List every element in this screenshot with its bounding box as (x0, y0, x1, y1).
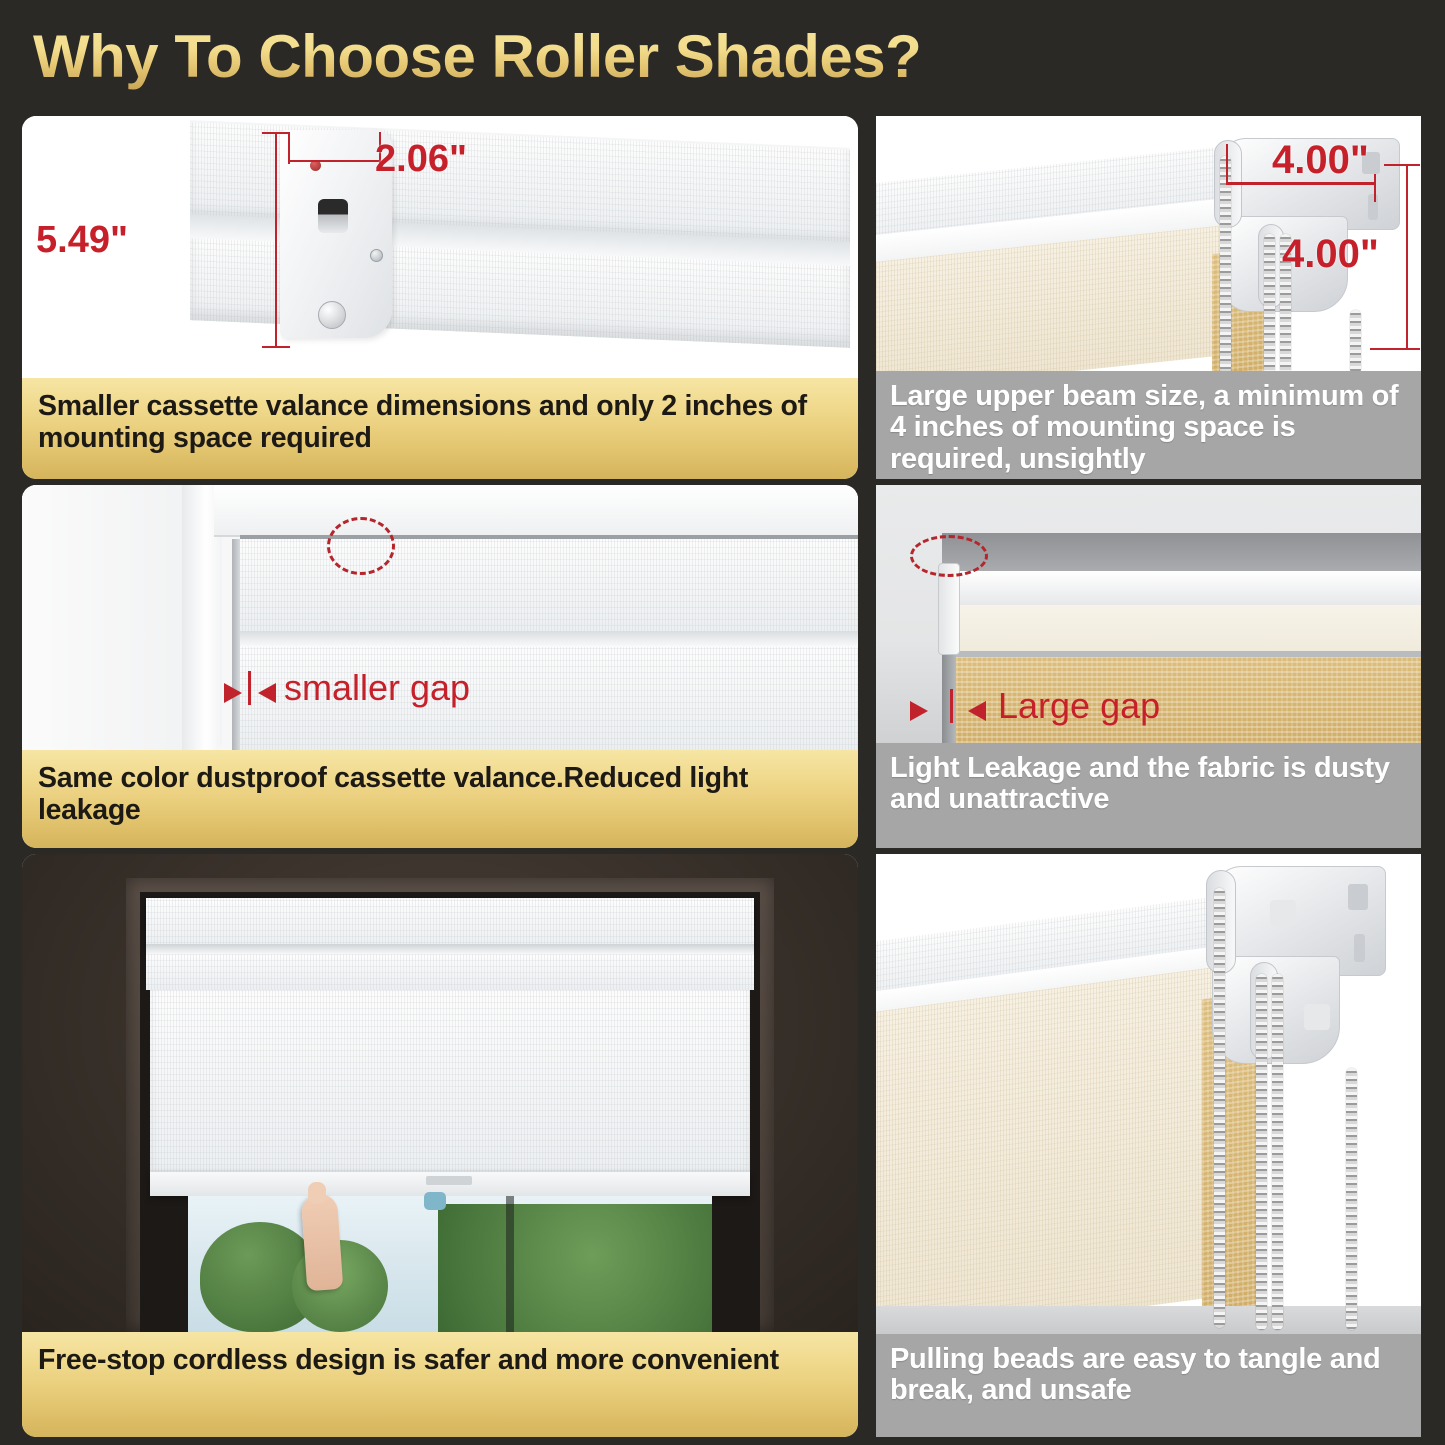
page-title: Why To Choose Roller Shades? (33, 22, 921, 91)
caption-text: Free-stop cordless design is safer and m… (22, 1332, 795, 1376)
valance-strip (942, 571, 1421, 605)
tree-right (438, 1204, 712, 1332)
cassette-valance-photo: 2.06" 5.49" (22, 116, 858, 378)
caption-large-upper-beam: Large upper beam size, a minimum of 4 in… (876, 371, 1421, 479)
height-dim-cap-top (262, 132, 290, 134)
smaller-gap-label: smaller gap (284, 667, 470, 709)
bracket-emblem-lower-icon (1304, 1004, 1330, 1030)
cassette-valance-top (146, 898, 754, 948)
beam-width-tick-left (1226, 144, 1228, 184)
highlight-circle (327, 517, 395, 575)
hand-thumb (308, 1182, 326, 1204)
panel-pulling-beads[interactable]: Pulling beads are easy to tangle and bre… (876, 854, 1421, 1437)
caption-smaller-gap: Same color dustproof cassette valance.Re… (22, 750, 858, 848)
caption-text: Light Leakage and the fabric is dusty an… (876, 743, 1421, 816)
caption-text: Smaller cassette valance dimensions and … (22, 378, 858, 455)
smaller-gap-photo: smaller gap (22, 485, 858, 750)
beam-width-label: 4.00" (1272, 138, 1369, 183)
panel-large-gap[interactable]: Large gap Light Leakage and the fabric i… (876, 485, 1421, 848)
height-dim-line (275, 132, 277, 348)
width-dimension-label: 2.06" (375, 138, 467, 181)
bracket-slot2-icon (1368, 194, 1378, 220)
window-mullion (506, 1196, 514, 1332)
bracket-slot2-icon (1354, 934, 1365, 962)
caption-cordless-design: Free-stop cordless design is safer and m… (22, 1332, 858, 1437)
valance-divider (240, 631, 858, 647)
caption-text: Same color dustproof cassette valance.Re… (22, 750, 858, 827)
beam-height-line (1406, 164, 1408, 350)
bead-chain-4 (1346, 1068, 1357, 1330)
width-dim-line (288, 160, 381, 162)
brand-badge (426, 1176, 472, 1185)
gap-arrow-right-icon (258, 683, 276, 703)
window-casing-top (214, 485, 858, 537)
panel-cordless-design[interactable]: Free-stop cordless design is safer and m… (22, 854, 858, 1437)
large-gap-photo: Large gap (876, 485, 1421, 743)
beam-height-label: 4.00" (1282, 232, 1379, 277)
bead-chain-3 (1272, 974, 1283, 1330)
bracket-slot-icon (1348, 884, 1368, 910)
wall-left (22, 485, 194, 750)
cordless-window-photo (22, 854, 858, 1332)
bead-chain-4 (1350, 310, 1361, 371)
height-dim-cap-bottom (262, 346, 290, 348)
panel-cassette-dimensions[interactable]: 2.06" 5.49" Smaller cassette valance dim… (22, 116, 858, 479)
large-beam-photo: 4.00" 4.00" (876, 116, 1421, 371)
gap-marker-line (950, 689, 953, 723)
comparison-grid: 2.06" 5.49" Smaller cassette valance dim… (0, 108, 1445, 1445)
shade-fabric-front (876, 967, 1214, 1334)
caption-text: Pulling beads are easy to tangle and bre… (876, 1334, 1421, 1407)
bead-chain-2 (1256, 974, 1267, 1330)
fabric-cream-band (952, 605, 1421, 653)
cassette-valance-bottom (146, 954, 754, 990)
bead-chain-1 (1220, 156, 1231, 371)
large-gap-label: Large gap (998, 685, 1160, 727)
beam-height-cap-top (1384, 164, 1420, 166)
gap-marker-line (248, 671, 251, 705)
floor-shadow (876, 1306, 1421, 1334)
gap-strip (232, 539, 240, 750)
window-view (188, 1196, 712, 1332)
caption-large-gap: Light Leakage and the fabric is dusty an… (876, 743, 1421, 848)
highlight-circle (910, 535, 988, 577)
pulling-beads-photo (876, 854, 1421, 1334)
gap-strip (942, 653, 956, 743)
clutch-hole-icon (318, 199, 348, 233)
caption-cassette-dimensions: Smaller cassette valance dimensions and … (22, 378, 858, 479)
bead-chain-2 (1264, 234, 1275, 371)
header-bar: Why To Choose Roller Shades? (0, 0, 1445, 108)
beam-height-cap-bottom (1370, 348, 1420, 350)
pull-tab (424, 1192, 446, 1210)
caption-pulling-beads: Pulling beads are easy to tangle and bre… (876, 1334, 1421, 1437)
caption-text: Large upper beam size, a minimum of 4 in… (876, 371, 1421, 475)
screw-mid-icon (370, 249, 383, 262)
roller-tube-dark (942, 533, 1421, 571)
panel-smaller-gap[interactable]: smaller gap Same color dustproof cassett… (22, 485, 858, 848)
shade-fabric (150, 990, 750, 1176)
bead-chain-1 (1214, 888, 1225, 1328)
hand (301, 1193, 344, 1291)
gap-arrow-left-icon (910, 701, 928, 721)
height-dimension-label: 5.49" (36, 219, 128, 262)
screw-bottom-icon (318, 301, 346, 329)
gap-arrow-left-icon (224, 683, 242, 703)
gap-arrow-right-icon (968, 701, 986, 721)
bracket-emblem-upper-icon (1270, 900, 1296, 926)
beam-width-tick-right (1374, 174, 1376, 202)
panel-large-upper-beam[interactable]: 4.00" 4.00" Large upper beam size, a min… (876, 116, 1421, 479)
